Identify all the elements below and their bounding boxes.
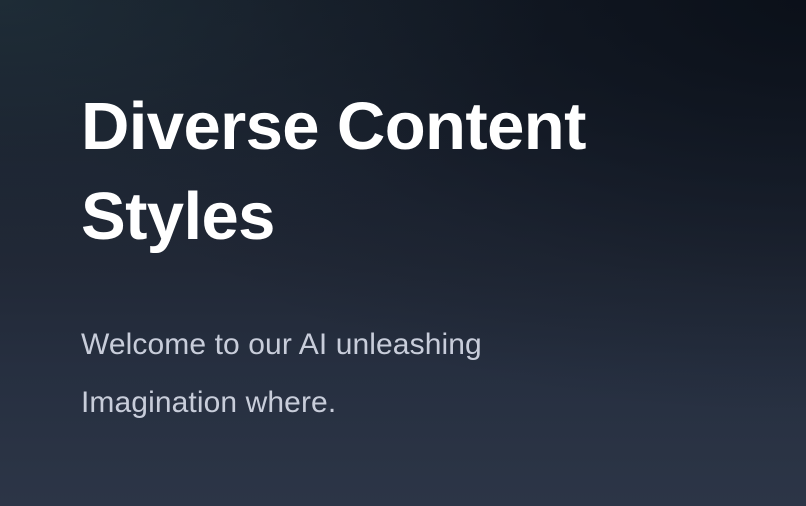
hero-subtitle: Welcome to our AI unleashing Imagination…: [81, 316, 581, 432]
page-title: Diverse Content Styles: [81, 82, 641, 262]
hero-content: Diverse Content Styles Welcome to our AI…: [81, 0, 681, 506]
hero-section: Diverse Content Styles Welcome to our AI…: [0, 0, 806, 506]
